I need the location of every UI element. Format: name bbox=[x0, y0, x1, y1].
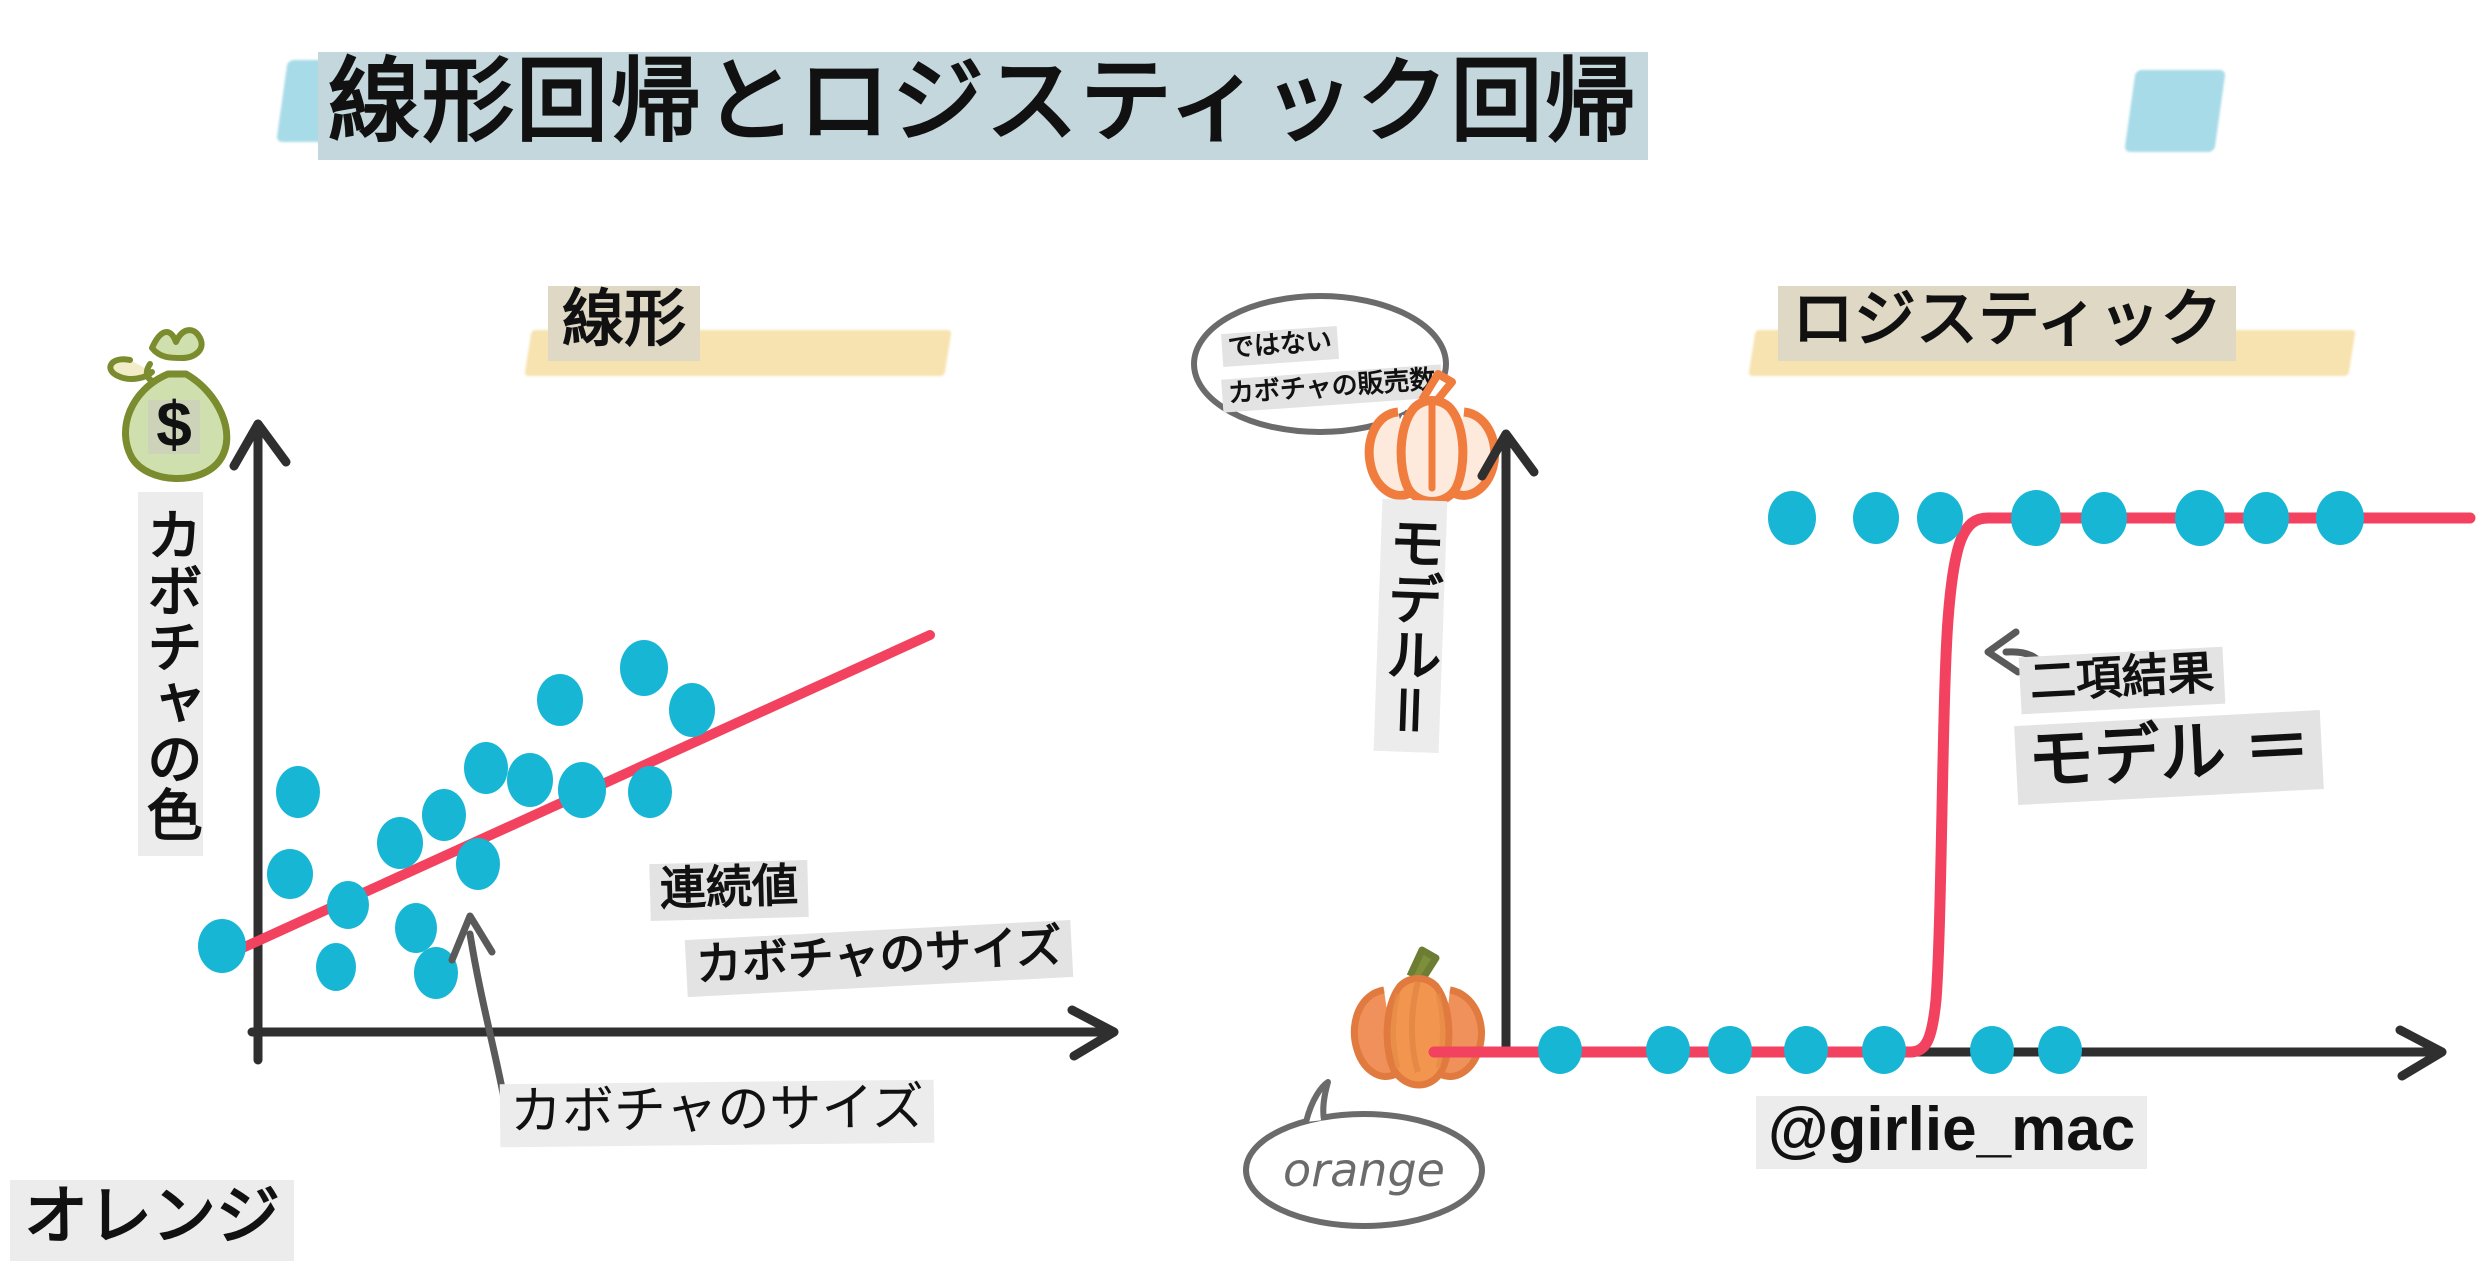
footer-word: オレンジ bbox=[10, 1180, 294, 1261]
right-annotation-binomial: 二項結果 bbox=[2019, 647, 2226, 715]
bubble-bottom-text: orange bbox=[1283, 1143, 1445, 1197]
left-x-axis-label: カボチャのサイズ bbox=[500, 1080, 935, 1148]
right-panel-heading: ロジスティック bbox=[1778, 286, 2236, 361]
page-title: 線形回帰とロジスティック回帰 bbox=[318, 52, 1648, 160]
middle-vertical-label: モデル＝ bbox=[1374, 499, 1448, 753]
title-marker-right bbox=[2124, 70, 2226, 152]
svg-text:$: $ bbox=[156, 388, 192, 460]
author-handle: @girlie_mac bbox=[1756, 1096, 2147, 1169]
left-panel-heading: 線形 bbox=[548, 286, 700, 361]
left-y-axis-label: カボチャの色 bbox=[138, 492, 203, 856]
left-annotation-continuous: 連続値 bbox=[649, 860, 808, 921]
right-annotation-model: モデル ＝ bbox=[2014, 710, 2324, 805]
speech-bubble-bottom: orange bbox=[1240, 1082, 1500, 1242]
right-chart bbox=[1440, 400, 2480, 1060]
